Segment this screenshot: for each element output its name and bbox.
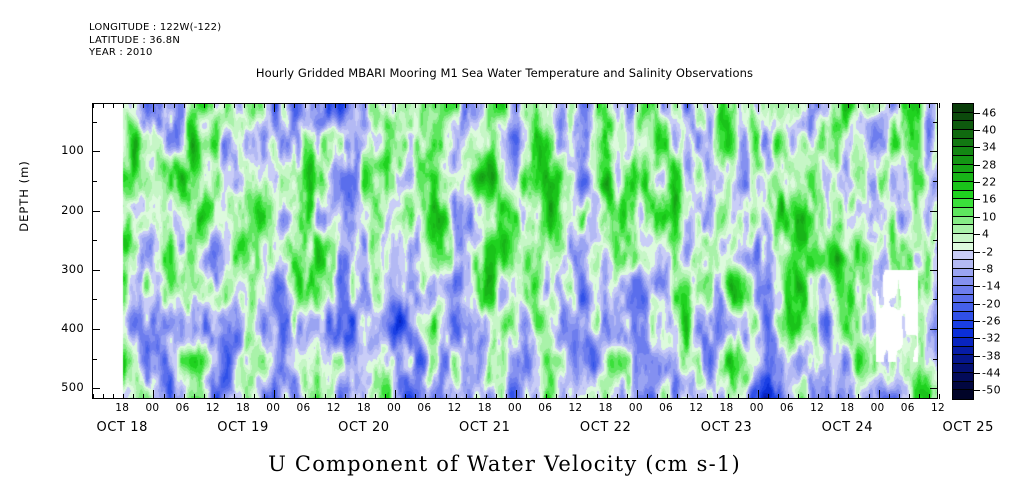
- x-axis-tick: [143, 103, 144, 108]
- colorbar-tick: [974, 373, 980, 374]
- x-axis-tick: [808, 103, 809, 108]
- x-axis-tick: [556, 103, 557, 108]
- x-axis-tick: [637, 390, 638, 399]
- x-axis-tick: [687, 103, 688, 108]
- x-axis-tick: [476, 103, 477, 108]
- x-axis-tick: [748, 103, 749, 108]
- colorbar-band: [953, 121, 973, 130]
- x-axis-tick: [385, 394, 386, 399]
- colorbar-band: [953, 234, 973, 243]
- x-axis-tick: [768, 103, 769, 108]
- heatmap-canvas: [93, 104, 937, 398]
- y-axis-tick: [930, 388, 938, 389]
- x-axis-tick: [697, 394, 698, 399]
- x-axis-hour-label: 00: [863, 402, 893, 414]
- x-axis-tick: [617, 394, 618, 399]
- y-axis-tick: [92, 270, 100, 271]
- colorbar-band: [953, 243, 973, 252]
- x-axis-tick: [506, 394, 507, 399]
- x-axis-tick: [345, 394, 346, 399]
- x-axis-tick: [335, 103, 336, 108]
- x-axis-day-label: OCT 25: [908, 420, 1009, 435]
- x-axis-tick: [778, 103, 779, 108]
- colorbar-tick-label: 4: [982, 228, 989, 241]
- x-axis-hour-label: 18: [470, 402, 500, 414]
- colorbar-tick: [974, 165, 980, 166]
- x-axis-tick: [818, 103, 819, 108]
- x-axis-tick: [325, 103, 326, 108]
- x-axis-tick: [264, 394, 265, 399]
- y-axis-tick-label: 500: [44, 380, 84, 394]
- x-axis-tick: [899, 394, 900, 399]
- x-axis-hour-label: 00: [500, 402, 530, 414]
- colorbar-tick-label: -14: [982, 280, 1001, 293]
- x-axis-hour-label: 18: [349, 402, 379, 414]
- x-axis-tick: [466, 103, 467, 108]
- x-axis-tick: [909, 103, 910, 108]
- x-axis-tick: [355, 103, 356, 108]
- x-axis-hour-label: 12: [440, 402, 470, 414]
- x-axis-tick: [526, 394, 527, 399]
- y-axis-tick: [933, 240, 938, 241]
- x-axis-tick: [808, 394, 809, 399]
- colorbar-band: [953, 390, 973, 399]
- colorbar-tick-label: -26: [982, 314, 1001, 327]
- x-axis-hour-label: 06: [651, 402, 681, 414]
- x-axis-hour-label: 00: [742, 402, 772, 414]
- colorbar-band: [953, 329, 973, 338]
- x-axis-tick: [546, 103, 547, 108]
- x-axis-hour-label: 06: [530, 402, 560, 414]
- x-axis-tick: [768, 394, 769, 399]
- x-axis-tick: [486, 103, 487, 108]
- x-axis-tick: [284, 394, 285, 399]
- colorbar-band: [953, 156, 973, 165]
- x-axis-day-label: OCT 20: [304, 420, 424, 435]
- colorbar-tick: [974, 113, 980, 114]
- colorbar-tick: [974, 321, 980, 322]
- x-axis-day-label: OCT 19: [183, 420, 303, 435]
- x-axis-tick: [788, 394, 789, 399]
- x-axis-tick: [869, 103, 870, 108]
- x-axis-tick: [597, 394, 598, 399]
- colorbar-band: [953, 260, 973, 269]
- x-axis-tick: [103, 103, 104, 108]
- x-axis-tick: [476, 394, 477, 399]
- x-axis-tick: [526, 103, 527, 108]
- x-axis-hour-label: 00: [258, 402, 288, 414]
- x-axis-tick: [365, 394, 366, 399]
- x-axis-tick: [254, 103, 255, 108]
- x-axis-tick: [939, 103, 940, 108]
- x-axis-tick: [798, 394, 799, 399]
- colorbar-tick-label: 22: [982, 176, 997, 189]
- colorbar-band: [953, 277, 973, 286]
- x-axis-tick: [566, 103, 567, 108]
- x-axis-tick: [335, 394, 336, 399]
- x-axis-tick: [738, 394, 739, 399]
- x-axis-hour-label: 18: [591, 402, 621, 414]
- x-axis-tick: [355, 394, 356, 399]
- x-axis-tick: [838, 103, 839, 108]
- y-axis-tick: [933, 122, 938, 123]
- colorbar-tick: [974, 304, 980, 305]
- colorbar-tick-label: -32: [982, 332, 1001, 345]
- x-axis-tick: [446, 394, 447, 399]
- colorbar-band: [953, 165, 973, 174]
- x-axis-hour-label: 12: [560, 402, 590, 414]
- x-axis-tick: [164, 394, 165, 399]
- plot-area: [92, 103, 938, 399]
- x-axis-hour-label: 06: [772, 402, 802, 414]
- x-axis-tick: [858, 394, 859, 399]
- x-axis-tick: [848, 103, 849, 108]
- x-axis-tick: [123, 103, 124, 108]
- x-axis-tick: [828, 394, 829, 399]
- x-axis-tick: [274, 390, 275, 399]
- x-axis-tick: [576, 394, 577, 399]
- colorbar-tick: [974, 252, 980, 253]
- colorbar-tick-label: 10: [982, 210, 997, 223]
- x-axis-tick: [717, 103, 718, 108]
- x-axis-tick: [143, 394, 144, 399]
- x-axis-tick: [405, 103, 406, 108]
- colorbar-tick-label: -44: [982, 366, 1001, 379]
- colorbar-band: [953, 139, 973, 148]
- x-axis-hour-label: 12: [681, 402, 711, 414]
- x-axis-day-label: OCT 22: [546, 420, 666, 435]
- y-axis-tick: [92, 211, 100, 212]
- x-axis-hour-label: 18: [832, 402, 862, 414]
- x-axis-tick: [617, 103, 618, 108]
- colorbar-band: [953, 355, 973, 364]
- colorbar-band: [953, 303, 973, 312]
- y-axis-tick: [92, 329, 100, 330]
- y-axis-tick-label: 400: [44, 321, 84, 335]
- x-axis-tick: [214, 394, 215, 399]
- x-axis-tick: [375, 103, 376, 108]
- x-axis-tick: [879, 103, 880, 112]
- colorbar-band: [953, 321, 973, 330]
- colorbar-tick-label: 46: [982, 106, 997, 119]
- x-axis-day-label: OCT 18: [62, 420, 182, 435]
- x-axis-tick: [587, 394, 588, 399]
- x-axis-tick: [536, 103, 537, 108]
- x-axis-tick: [184, 103, 185, 108]
- x-axis-hour-label: 18: [712, 402, 742, 414]
- x-axis-tick: [234, 394, 235, 399]
- x-axis-hour-label: 18: [107, 402, 137, 414]
- x-axis-tick: [264, 103, 265, 108]
- x-axis-tick: [133, 394, 134, 399]
- colorbar-band: [953, 312, 973, 321]
- x-axis-tick: [919, 103, 920, 108]
- x-axis-tick: [305, 103, 306, 108]
- latitude-label: LATITUDE : 36.8N: [89, 35, 180, 46]
- x-axis-tick: [637, 103, 638, 112]
- x-axis-tick: [456, 103, 457, 108]
- y-axis-tick-label: 100: [44, 143, 84, 157]
- y-axis-tick: [92, 240, 97, 241]
- x-axis-hour-label: 00: [379, 402, 409, 414]
- x-axis-tick: [466, 394, 467, 399]
- colorbar-band: [953, 338, 973, 347]
- x-axis-tick: [828, 103, 829, 108]
- metadata-block: LONGITUDE : 122W(-122) LATITUDE : 36.8N …: [89, 22, 221, 60]
- page-title: Hourly Gridded MBARI Mooring M1 Sea Wate…: [0, 66, 1009, 80]
- x-axis-hour-label: 18: [228, 402, 258, 414]
- x-axis-tick: [899, 103, 900, 108]
- x-axis-tick: [838, 394, 839, 399]
- colorbar-band: [953, 130, 973, 139]
- colorbar-tick-label: 16: [982, 193, 997, 206]
- x-axis-tick: [728, 103, 729, 108]
- y-axis-tick: [930, 151, 938, 152]
- x-axis-tick: [597, 103, 598, 108]
- colorbar-tick: [974, 338, 980, 339]
- x-axis-tick: [93, 394, 94, 399]
- x-axis-tick: [415, 103, 416, 108]
- colorbar-band: [953, 182, 973, 191]
- x-axis-tick: [647, 394, 648, 399]
- x-axis-tick: [113, 394, 114, 399]
- x-axis-tick: [778, 394, 779, 399]
- x-axis-tick: [123, 394, 124, 399]
- x-axis-tick: [939, 394, 940, 399]
- colorbar-tick: [974, 269, 980, 270]
- x-axis-tick: [607, 103, 608, 108]
- colorbar-tick: [974, 234, 980, 235]
- x-axis-tick: [456, 394, 457, 399]
- x-axis-tick: [929, 103, 930, 108]
- x-axis-tick: [627, 103, 628, 108]
- x-axis-tick: [315, 394, 316, 399]
- x-axis-day-label: OCT 21: [425, 420, 545, 435]
- y-axis-tick: [92, 122, 97, 123]
- x-axis-tick: [748, 394, 749, 399]
- colorbar-band: [953, 295, 973, 304]
- x-axis-tick: [153, 103, 154, 112]
- x-axis-tick: [818, 394, 819, 399]
- x-axis-day-label: OCT 23: [667, 420, 787, 435]
- colorbar-band: [953, 191, 973, 200]
- year-label: YEAR : 2010: [89, 47, 153, 58]
- x-axis-tick: [627, 394, 628, 399]
- x-axis-tick: [536, 394, 537, 399]
- y-axis-tick: [930, 211, 938, 212]
- x-axis-tick: [707, 394, 708, 399]
- x-axis-tick: [224, 103, 225, 108]
- colorbar-band: [953, 113, 973, 122]
- x-axis-tick: [506, 103, 507, 108]
- x-axis-tick: [305, 394, 306, 399]
- x-axis-tick: [153, 390, 154, 399]
- colorbar-tick: [974, 199, 980, 200]
- x-axis-tick: [889, 103, 890, 108]
- x-axis-tick: [707, 103, 708, 108]
- colorbar-band: [953, 251, 973, 260]
- x-axis-tick: [244, 394, 245, 399]
- y-axis-tick: [930, 329, 938, 330]
- colorbar-tick-label: 40: [982, 124, 997, 137]
- colorbar-band: [953, 364, 973, 373]
- x-axis-hour-label: 06: [289, 402, 319, 414]
- y-axis-tick-label: 300: [44, 262, 84, 276]
- x-axis-tick: [204, 103, 205, 108]
- x-axis-tick: [133, 103, 134, 108]
- y-axis-tick: [92, 181, 97, 182]
- x-axis-tick: [93, 103, 94, 108]
- y-axis-tick: [930, 270, 938, 271]
- x-axis-tick: [657, 103, 658, 108]
- colorbar-tick: [974, 390, 980, 391]
- x-axis-tick: [294, 394, 295, 399]
- x-axis-tick: [415, 394, 416, 399]
- x-axis-tick: [697, 103, 698, 108]
- colorbar-tick-label: 34: [982, 141, 997, 154]
- y-axis-tick: [92, 359, 97, 360]
- x-axis-tick: [315, 103, 316, 108]
- y-axis-tick: [933, 181, 938, 182]
- x-axis-tick: [435, 394, 436, 399]
- x-axis-tick: [325, 394, 326, 399]
- colorbar-band: [953, 225, 973, 234]
- colorbar-tick-label: -20: [982, 297, 1001, 310]
- x-axis-tick: [174, 394, 175, 399]
- x-axis-tick: [738, 103, 739, 108]
- x-axis-tick: [375, 394, 376, 399]
- x-axis-tick: [184, 394, 185, 399]
- x-axis-hour-label: 12: [319, 402, 349, 414]
- x-axis-tick: [516, 103, 517, 112]
- x-axis-tick: [677, 394, 678, 399]
- x-axis-hour-label: 12: [923, 402, 953, 414]
- x-axis-hour-label: 06: [409, 402, 439, 414]
- x-axis-tick: [858, 103, 859, 108]
- x-axis-tick: [798, 103, 799, 108]
- x-axis-tick: [174, 103, 175, 108]
- y-axis-tick: [92, 151, 100, 152]
- x-axis-tick: [486, 394, 487, 399]
- x-axis-tick: [113, 103, 114, 108]
- x-axis-tick: [204, 394, 205, 399]
- x-axis-tick: [758, 390, 759, 399]
- colorbar-band: [953, 199, 973, 208]
- x-axis-tick: [274, 103, 275, 112]
- x-axis-tick: [909, 394, 910, 399]
- x-axis-tick: [667, 394, 668, 399]
- x-axis-tick: [566, 394, 567, 399]
- y-axis-tick-label: 200: [44, 203, 84, 217]
- y-axis-tick: [92, 299, 97, 300]
- x-axis-tick: [294, 103, 295, 108]
- x-axis-tick: [164, 103, 165, 108]
- x-axis-tick: [405, 394, 406, 399]
- x-axis-tick: [496, 103, 497, 108]
- x-axis-hour-label: 06: [893, 402, 923, 414]
- x-axis-hour-label: 00: [137, 402, 167, 414]
- colorbar-tick-label: 28: [982, 158, 997, 171]
- x-axis-tick: [395, 390, 396, 399]
- x-axis-tick: [758, 103, 759, 112]
- x-axis-tick: [879, 390, 880, 399]
- x-axis-tick: [194, 394, 195, 399]
- x-axis-tick: [244, 103, 245, 108]
- colorbar-band: [953, 347, 973, 356]
- x-axis-tick: [556, 394, 557, 399]
- x-axis-tick: [717, 394, 718, 399]
- y-axis-tick: [933, 299, 938, 300]
- x-axis-tick: [284, 103, 285, 108]
- colorbar-band: [953, 104, 973, 113]
- x-axis-hour-label: 06: [168, 402, 198, 414]
- x-axis-tick: [647, 103, 648, 108]
- x-axis-tick: [254, 394, 255, 399]
- x-axis-tick: [194, 103, 195, 108]
- colorbar-tick-label: -2: [982, 245, 994, 258]
- x-axis-tick: [365, 103, 366, 108]
- y-axis-title: DEPTH (m): [17, 160, 31, 232]
- x-axis-tick: [657, 394, 658, 399]
- colorbar-band: [953, 147, 973, 156]
- colorbar-tick: [974, 182, 980, 183]
- x-axis-tick: [667, 103, 668, 108]
- x-axis-tick: [607, 394, 608, 399]
- x-axis-tick: [214, 103, 215, 108]
- colorbar-tick-label: -50: [982, 384, 1001, 397]
- x-axis-tick: [869, 394, 870, 399]
- x-axis-tick: [687, 394, 688, 399]
- colorbar-band: [953, 373, 973, 382]
- x-axis-tick: [929, 394, 930, 399]
- colorbar-tick: [974, 286, 980, 287]
- x-axis-hour-label: 00: [621, 402, 651, 414]
- colorbar-band: [953, 382, 973, 391]
- x-axis-tick: [425, 394, 426, 399]
- x-axis-tick: [587, 103, 588, 108]
- x-axis-tick: [103, 394, 104, 399]
- x-axis-tick: [395, 103, 396, 112]
- x-axis-tick: [345, 103, 346, 108]
- x-axis-tick: [576, 103, 577, 108]
- x-axis-tick: [435, 103, 436, 108]
- colorbar-tick: [974, 147, 980, 148]
- y-axis-tick: [933, 359, 938, 360]
- x-axis-tick: [546, 394, 547, 399]
- x-axis-tick: [677, 103, 678, 108]
- x-axis-tick: [516, 390, 517, 399]
- colorbar-tick: [974, 356, 980, 357]
- colorbar-tick-label: -8: [982, 262, 994, 275]
- heatmap-field: [93, 104, 937, 398]
- x-axis-hour-label: 12: [802, 402, 832, 414]
- x-axis-tick: [234, 103, 235, 108]
- longitude-label: LONGITUDE : 122W(-122): [89, 22, 221, 33]
- x-axis-tick: [385, 103, 386, 108]
- colorbar-band: [953, 217, 973, 226]
- x-axis-tick: [889, 394, 890, 399]
- colorbar-band: [953, 269, 973, 278]
- y-axis-tick: [92, 388, 100, 389]
- x-axis-tick: [919, 394, 920, 399]
- x-axis-tick: [788, 103, 789, 108]
- colorbar-tick: [974, 130, 980, 131]
- x-axis-tick: [446, 103, 447, 108]
- colorbar-band: [953, 173, 973, 182]
- colorbar-tick-label: -38: [982, 349, 1001, 362]
- x-axis-day-label: OCT 24: [787, 420, 907, 435]
- colorbar-band: [953, 208, 973, 217]
